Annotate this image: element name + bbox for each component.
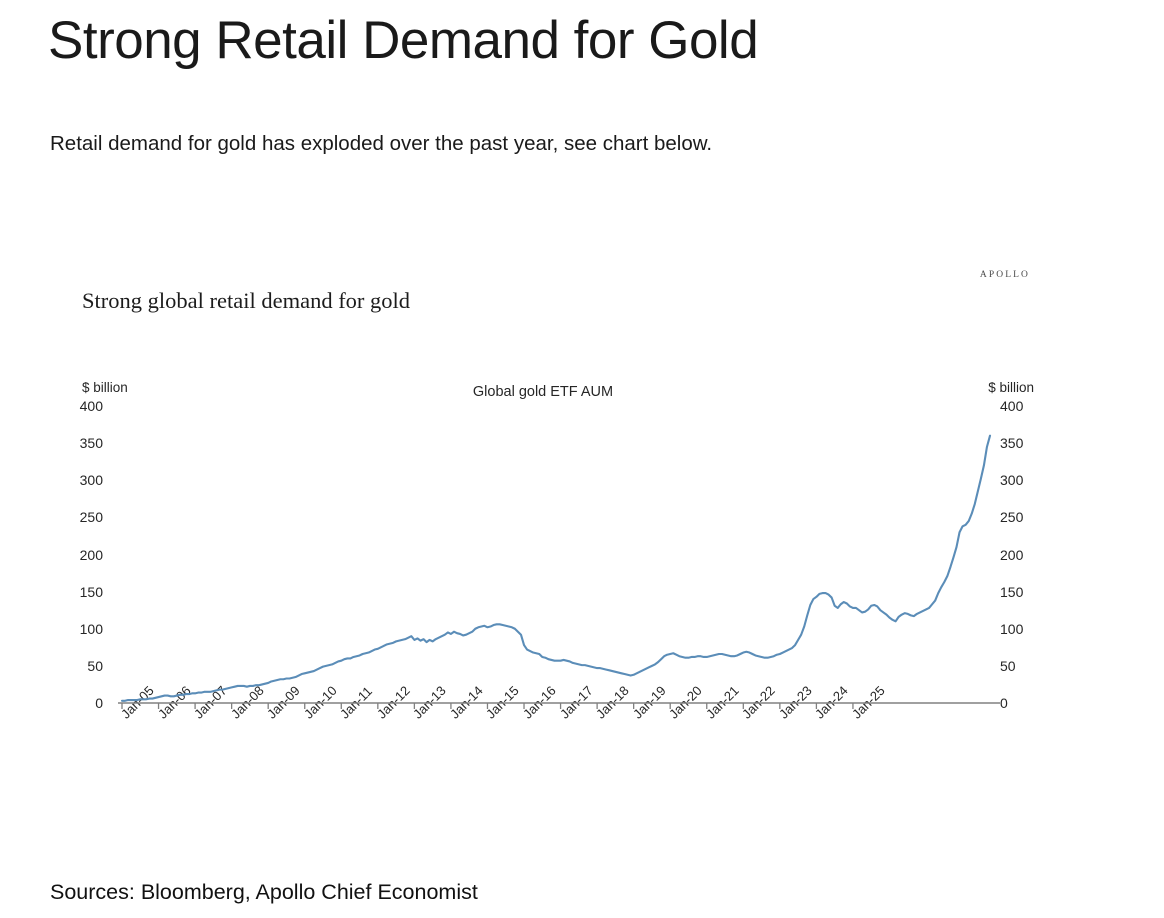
sources-footer: Sources: Bloomberg, Apollo Chief Economi… [50, 880, 478, 905]
series-line-global-gold-etf-aum [122, 436, 990, 701]
plot-area: $ billion $ billion Global gold ETF AUM … [38, 258, 1048, 828]
page-title: Strong Retail Demand for Gold [48, 10, 758, 71]
chart-card: APOLLO Strong global retail demand for g… [38, 258, 1048, 828]
line-chart-svg [38, 258, 1048, 828]
page-subtitle: Retail demand for gold has exploded over… [50, 132, 712, 156]
